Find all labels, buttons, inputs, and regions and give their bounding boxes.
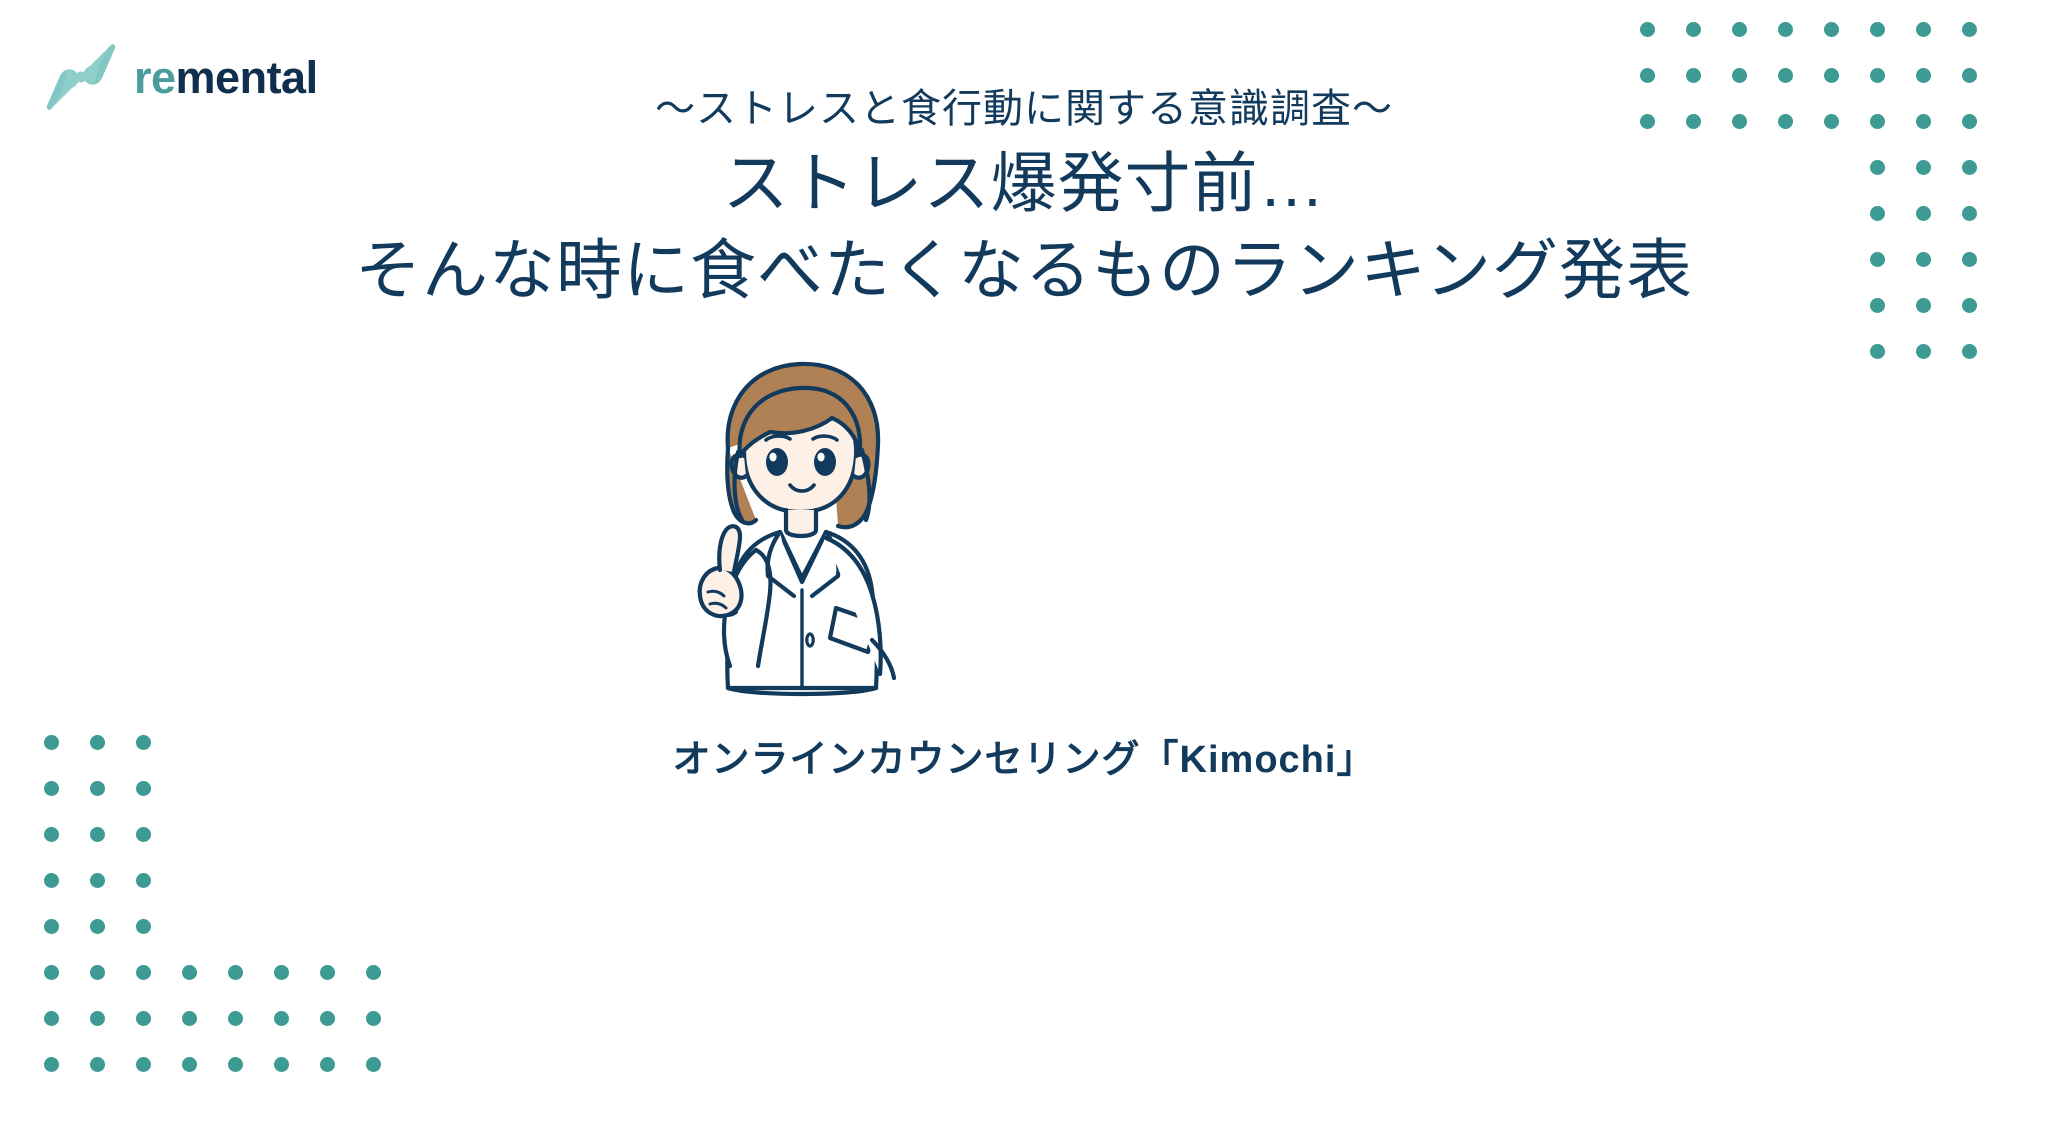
decor-dot [90, 1057, 105, 1072]
decor-dot [1824, 22, 1839, 37]
decor-dot [44, 1011, 59, 1026]
decor-dot [366, 1011, 381, 1026]
decor-dot [136, 827, 151, 842]
decor-dot [90, 1011, 105, 1026]
decor-dot [1962, 344, 1977, 359]
decor-dot [136, 873, 151, 888]
decor-dot [136, 1057, 151, 1072]
decor-dot [228, 1057, 243, 1072]
decor-dot [366, 1057, 381, 1072]
decor-dot [136, 1011, 151, 1026]
decor-dot [320, 965, 335, 980]
decor-dot [136, 919, 151, 934]
decor-dot [274, 965, 289, 980]
decor-dot [1870, 22, 1885, 37]
decor-dot [44, 781, 59, 796]
decor-dot [44, 965, 59, 980]
decor-dot [182, 965, 197, 980]
decor-dot [44, 919, 59, 934]
decor-dot [228, 1011, 243, 1026]
slide-root: remental 〜ストレスと食行動に関する意識調査〜 ストレス爆発寸前… そん… [0, 0, 2048, 1129]
decor-dot [136, 965, 151, 980]
decor-dot [44, 873, 59, 888]
decor-dot [320, 1011, 335, 1026]
decor-dot [44, 827, 59, 842]
decor-dot [366, 965, 381, 980]
page-title-line-1: ストレス爆発寸前… [0, 140, 2048, 227]
service-caption: オンラインカウンセリング「Kimochi」 [0, 728, 2048, 783]
decor-dot [90, 827, 105, 842]
decor-dot [1778, 22, 1793, 37]
decor-dot [274, 1057, 289, 1072]
decor-dot [90, 873, 105, 888]
decor-dot [274, 1011, 289, 1026]
decor-dot [1640, 22, 1655, 37]
decor-dot [1686, 22, 1701, 37]
decor-dot [1916, 344, 1931, 359]
decor-dot [228, 965, 243, 980]
decor-dot [1962, 22, 1977, 37]
decor-dot [1870, 344, 1885, 359]
survey-subtitle: 〜ストレスと食行動に関する意識調査〜 [0, 76, 2048, 134]
page-title: ストレス爆発寸前… そんな時に食べたくなるものランキング発表 [0, 140, 2048, 314]
decor-dot [1732, 22, 1747, 37]
decor-dot-grid-bottom-left [44, 735, 444, 1129]
decor-dot [136, 781, 151, 796]
decor-dot [182, 1057, 197, 1072]
decor-dot [90, 781, 105, 796]
decor-dot [90, 965, 105, 980]
decor-dot [1916, 22, 1931, 37]
decor-dot [90, 919, 105, 934]
decor-dot [182, 1011, 197, 1026]
counselor-woman-illustration [640, 340, 970, 710]
decor-dot [320, 1057, 335, 1072]
page-title-line-2: そんな時に食べたくなるものランキング発表 [0, 227, 2048, 314]
decor-dot [44, 1057, 59, 1072]
